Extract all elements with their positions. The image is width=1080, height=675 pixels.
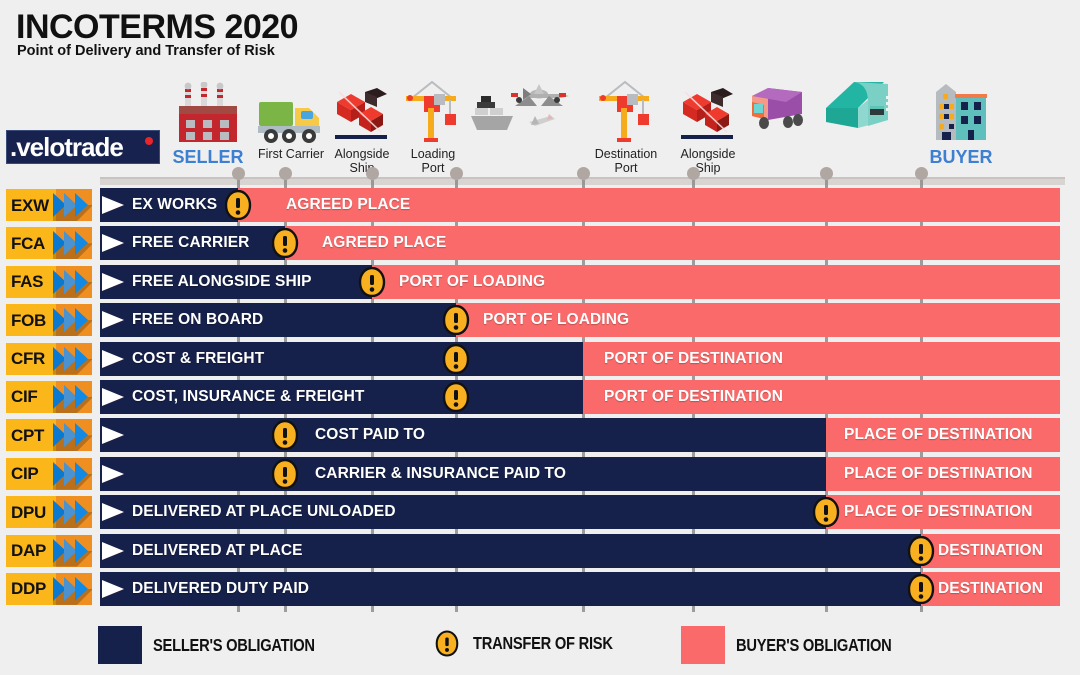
buyer-place-label: PORT OF DESTINATION [604,380,783,414]
buildings-icon [901,82,1021,144]
incoterm-code: CFR [11,350,55,367]
chevron-right-icon [75,193,88,217]
incoterm-row[interactable]: DDPDELIVERED DUTY PAIDDESTINATION [0,572,1080,606]
arrow-head-icon [102,542,124,560]
journey-node-label: AlongsideShip [648,147,768,175]
incoterm-row[interactable]: FCAFREE CARRIERAGREED PLACE [0,226,1080,260]
axis-dot [577,167,590,180]
chevron-right-icon [75,423,88,447]
arrow-head-icon [102,465,124,483]
incoterm-code: DPU [11,504,55,521]
incoterms-rows: EXWEX WORKSAGREED PLACE FCAFREE CARRIERA… [0,188,1080,610]
legend-label: BUYER'S OBLIGATION [736,635,891,656]
transfer-of-risk-icon[interactable] [271,459,299,489]
legend-item: TRANSFER OF RISK [432,626,639,660]
incoterm-row[interactable]: CIPCARRIER & INSURANCE PAID TOPLACE OF D… [0,457,1080,491]
incoterm-code: CPT [11,427,55,444]
buyer-place-label: PORT OF LOADING [399,265,545,299]
incoterm-row[interactable]: DPUDELIVERED AT PLACE UNLOADEDPLACE OF D… [0,495,1080,529]
transfer-of-risk-icon[interactable] [812,497,840,527]
incoterm-code: CIF [11,388,55,405]
seller-term-label: FREE ON BOARD [132,303,263,337]
legend-label: TRANSFER OF RISK [473,633,613,654]
incoterm-code-tag[interactable]: FOB [6,304,92,336]
arrow-head-icon [102,273,124,291]
transfer-of-risk-icon[interactable] [442,344,470,374]
incoterm-row[interactable]: FASFREE ALONGSIDE SHIPPORT OF LOADING [0,265,1080,299]
incoterm-row[interactable]: EXWEX WORKSAGREED PLACE [0,188,1080,222]
seller-term-label: DELIVERED AT PLACE [132,534,303,568]
arrow-head-icon [102,388,124,406]
incoterm-code: FCA [11,235,55,252]
chevron-right-icon [75,270,88,294]
buyer-place-label: PORT OF LOADING [483,303,629,337]
seller-term-label: DELIVERED AT PLACE UNLOADED [132,495,396,529]
journey-node-label: BUYER [901,147,1021,167]
infographic-canvas: INCOTERMS 2020 Point of Delivery and Tra… [0,0,1080,675]
page-title: INCOTERMS 2020 [16,10,298,44]
seller-term-label: FREE CARRIER [132,226,249,260]
transfer-of-risk-icon[interactable] [442,305,470,335]
velotrade-logo: .velotrade [6,130,160,164]
incoterm-row[interactable]: CPTCOST PAID TOPLACE OF DESTINATION [0,418,1080,452]
legend-swatch-buyer [681,626,725,664]
legend-swatch-seller [98,626,142,664]
incoterm-code: FOB [11,312,55,329]
legend-risk-icon [432,626,462,660]
incoterm-code-tag[interactable]: DAP [6,535,92,567]
incoterm-code: CIP [11,465,55,482]
axis-dot [279,167,292,180]
incoterm-code: DAP [11,542,55,559]
buyer-place-label: AGREED PLACE [322,226,446,260]
chevron-right-icon [75,577,88,601]
arrow-head-icon [102,580,124,598]
incoterm-row[interactable]: DAPDELIVERED AT PLACEDESTINATION [0,534,1080,568]
legend-label: SELLER'S OBLIGATION [153,635,315,656]
transfer-of-risk-icon[interactable] [271,420,299,450]
arrow-head-icon [102,234,124,252]
buyer-place-label: PLACE OF DESTINATION [844,495,1033,529]
axis-dot [450,167,463,180]
incoterm-code: DDP [11,580,55,597]
axis-dot [915,167,928,180]
buyer-place-label: DESTINATION [938,572,1043,606]
arrow-head-icon [102,426,124,444]
arrow-head-icon [102,350,124,368]
arrow-head-icon [102,196,124,214]
incoterm-code-tag[interactable]: CPT [6,419,92,451]
axis-dot [687,167,700,180]
chevron-right-icon [75,500,88,524]
incoterm-code-tag[interactable]: FCA [6,227,92,259]
legend-item: BUYER'S OBLIGATION [681,626,921,664]
incoterm-code-tag[interactable]: CIP [6,458,92,490]
incoterm-code-tag[interactable]: DPU [6,496,92,528]
seller-term-label: FREE ALONGSIDE SHIP [132,265,312,299]
chevron-right-icon [75,385,88,409]
transfer-of-risk-icon[interactable] [358,267,386,297]
incoterm-code-tag[interactable]: EXW [6,189,92,221]
buyer-place-label: PLACE OF DESTINATION [844,418,1033,452]
transfer-of-risk-icon[interactable] [224,190,252,220]
buyer-place-label: PLACE OF DESTINATION [844,457,1033,491]
incoterm-row[interactable]: FOBFREE ON BOARDPORT OF LOADING [0,303,1080,337]
seller-obligation-bar[interactable] [100,418,826,452]
transfer-of-risk-icon[interactable] [907,536,935,566]
incoterm-row[interactable]: CFRCOST & FREIGHTPORT OF DESTINATION [0,342,1080,376]
incoterm-row[interactable]: CIFCOST, INSURANCE & FREIGHTPORT OF DEST… [0,380,1080,414]
incoterm-code-tag[interactable]: CIF [6,381,92,413]
transfer-of-risk-icon[interactable] [271,228,299,258]
buyer-place-label: PORT OF DESTINATION [604,342,783,376]
logo-text: .velotrade [10,134,123,160]
chevron-right-icon [75,539,88,563]
axis-dot [820,167,833,180]
transfer-of-risk-icon[interactable] [442,382,470,412]
seller-term-label: DELIVERED DUTY PAID [132,572,309,606]
seller-term-label: COST & FREIGHT [132,342,264,376]
chevron-right-icon [75,347,88,371]
incoterm-code-tag[interactable]: DDP [6,573,92,605]
seller-term-label: EX WORKS [132,188,217,222]
incoterm-code: EXW [11,197,55,214]
chevron-right-icon [75,308,88,332]
seller-term-label: CARRIER & INSURANCE PAID TO [315,457,566,491]
legend-item: SELLER'S OBLIGATION [98,626,346,664]
chevron-right-icon [75,231,88,255]
seller-term-label: COST PAID TO [315,418,425,452]
chevron-right-icon [75,462,88,486]
journey-node-label: LoadingPort [373,147,493,175]
incoterm-code-tag[interactable]: FAS [6,266,92,298]
arrow-head-icon [102,503,124,521]
page-subtitle: Point of Delivery and Transfer of Risk [17,44,275,59]
buyer-place-label: DESTINATION [938,534,1043,568]
axis-dot [232,167,245,180]
transfer-of-risk-icon[interactable] [907,574,935,604]
legend: SELLER'S OBLIGATION TRANSFER OF RISKBUYE… [0,622,1080,668]
incoterm-code-tag[interactable]: CFR [6,343,92,375]
buyer-place-label: AGREED PLACE [286,188,410,222]
seller-term-label: COST, INSURANCE & FREIGHT [132,380,364,414]
incoterm-code: FAS [11,273,55,290]
arrow-head-icon [102,311,124,329]
journey-node-buyer: BUYER [901,82,1021,167]
axis-dot [366,167,379,180]
